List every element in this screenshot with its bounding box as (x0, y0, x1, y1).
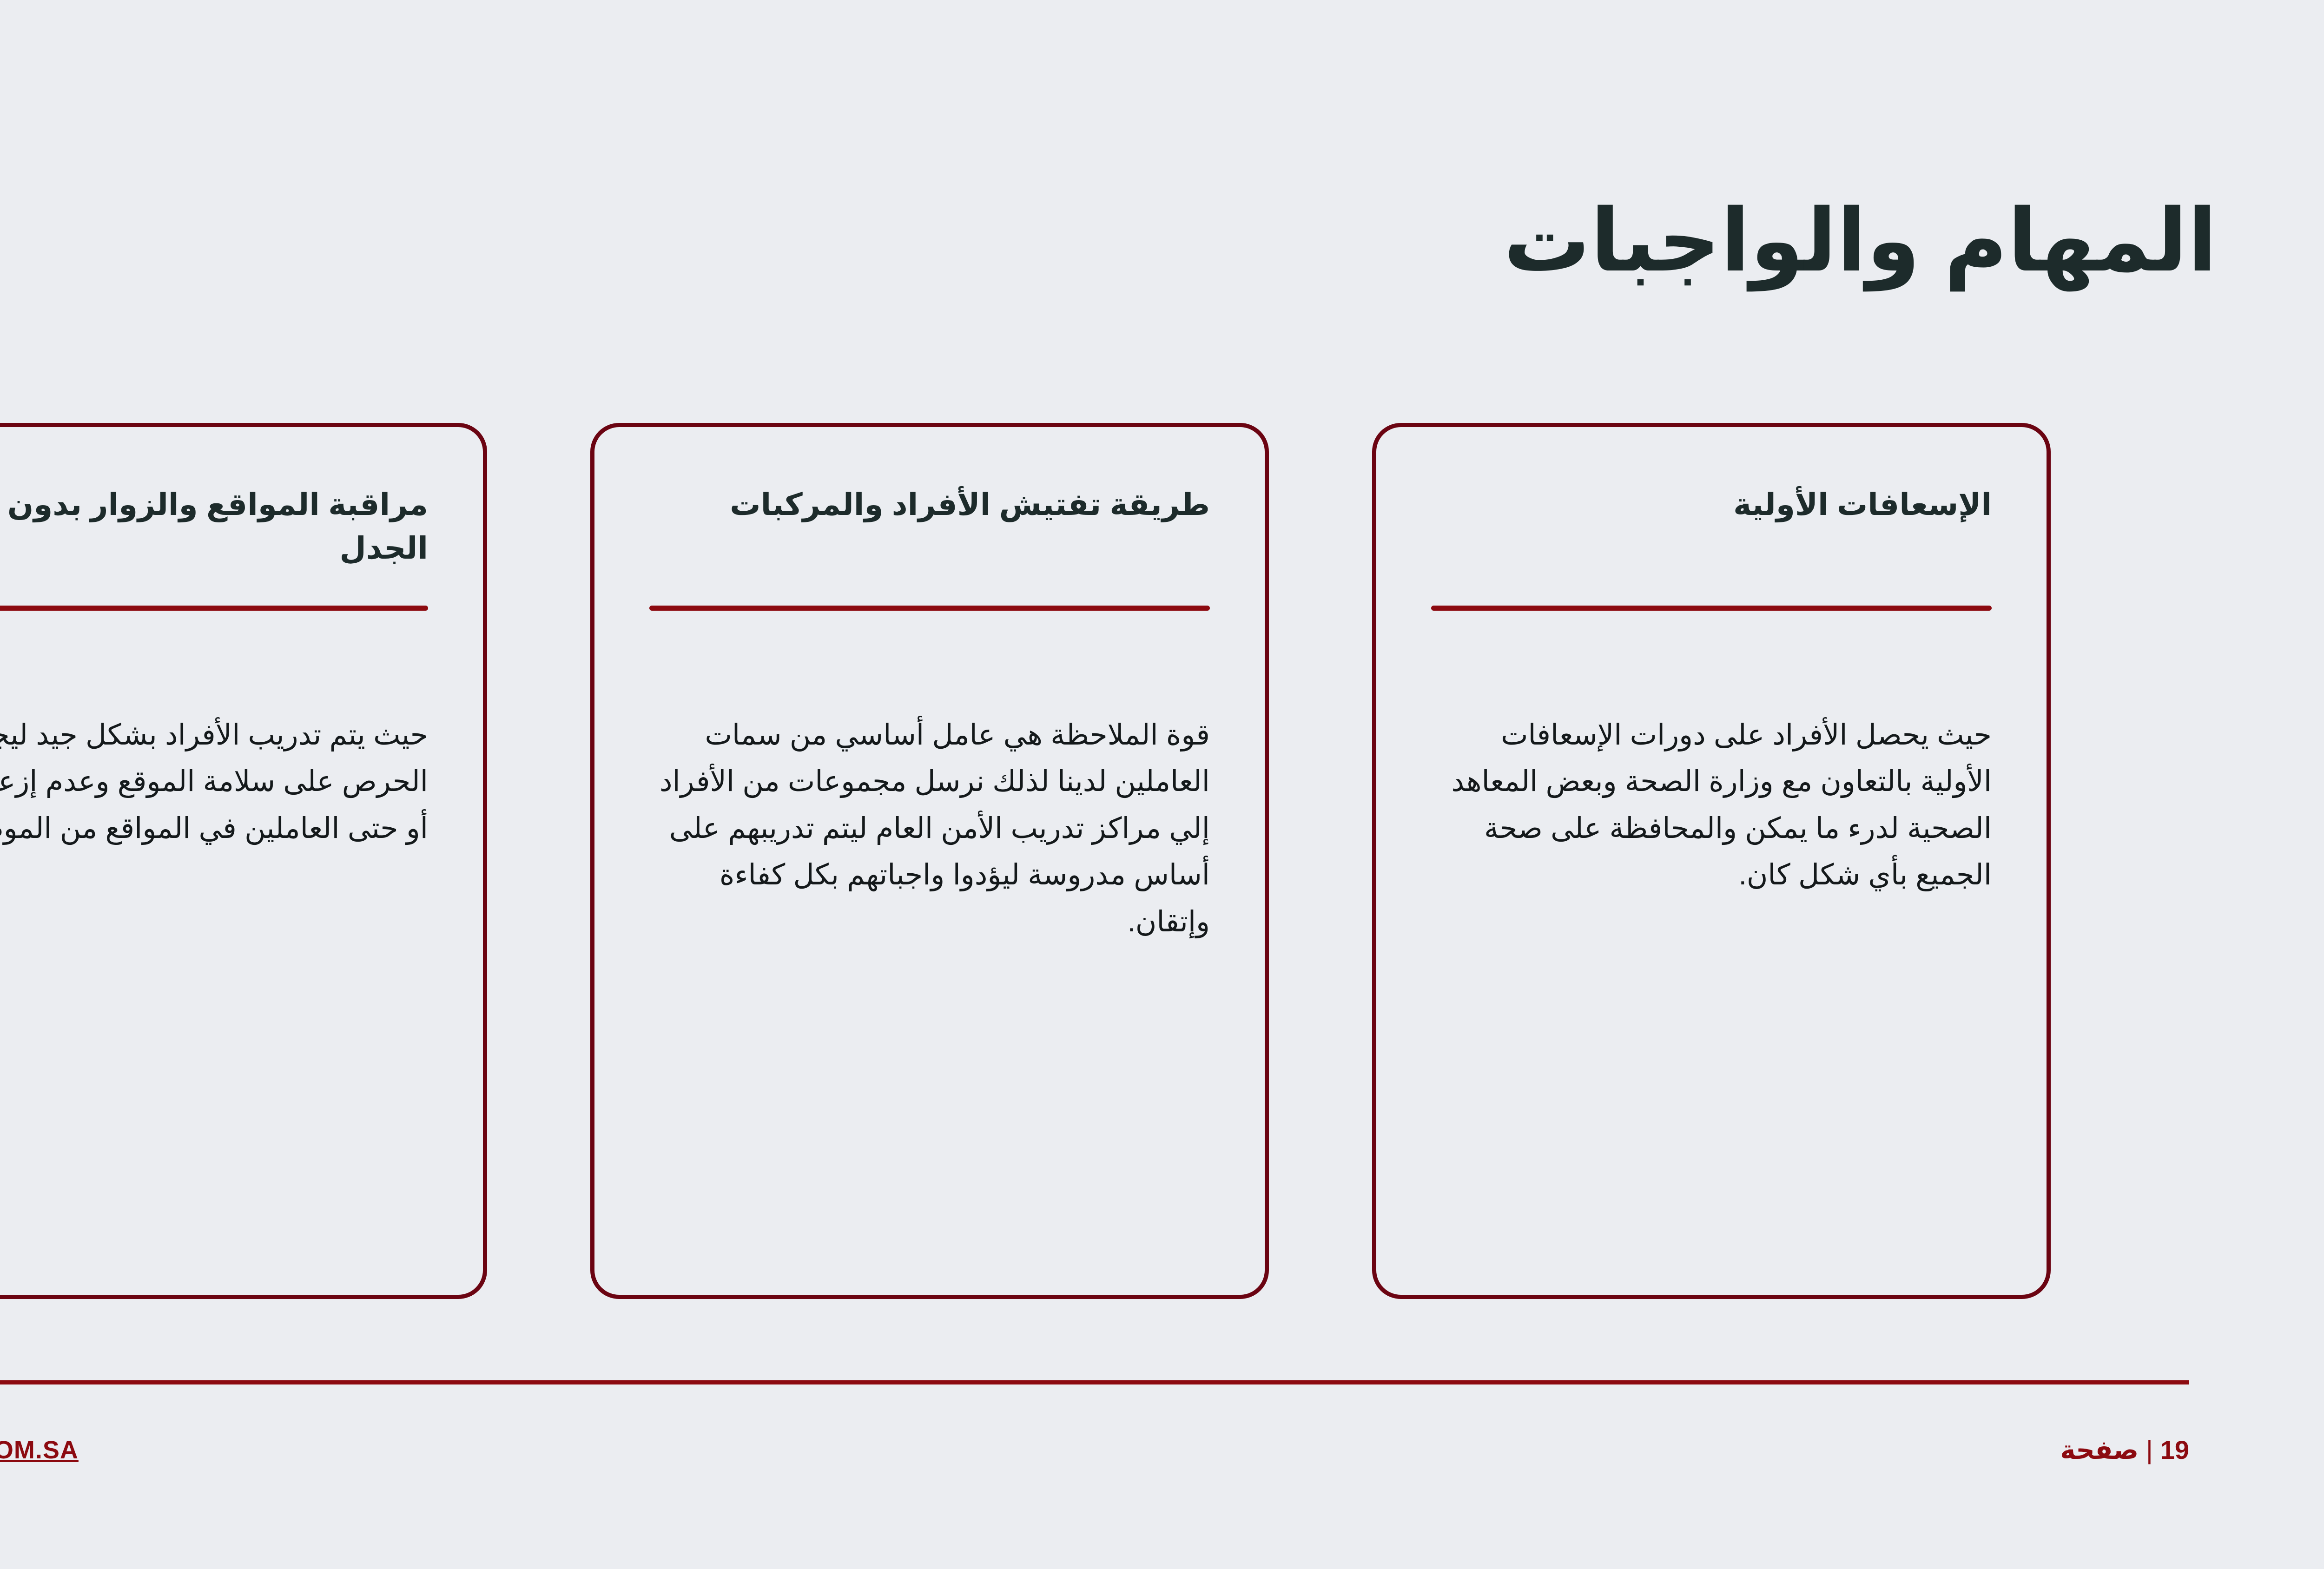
card-body: حيث يحصل الأفراد على دورات الإسعافات الأ… (1431, 712, 1992, 899)
card-content: الإسعافات الأولية حيث يحصل الأفراد على د… (1431, 483, 1992, 1267)
card-divider (1431, 606, 1992, 611)
card-title: طريقة تفتيش الأفراد والمركبات (649, 483, 1210, 576)
card-content: مراقبة المواقع والزوار بدون إثارة الجدل … (0, 483, 428, 1267)
footer: WWW.ALDRAA-ALWAQI.COM.SA 19|صفحة (0, 1422, 2189, 1478)
card-body: قوة الملاحظة هي عامل أساسي من سمات العام… (649, 712, 1210, 945)
card-body: حيث يتم تدريب الأفراد بشكل جيد ليجمع بين… (0, 712, 428, 852)
card-inspection[interactable]: طريقة تفتيش الأفراد والمركبات قوة الملاح… (590, 423, 1269, 1299)
page-title: المهام والواجبات (1504, 193, 2217, 290)
page-indicator: 19|صفحة (2060, 1435, 2189, 1465)
page-number: 19 (2160, 1435, 2189, 1464)
page-label: صفحة (2060, 1435, 2139, 1464)
page-separator: | (2139, 1435, 2160, 1464)
card-title: الإسعافات الأولية (1431, 483, 1992, 576)
card-monitoring[interactable]: مراقبة المواقع والزوار بدون إثارة الجدل … (0, 423, 487, 1299)
card-divider (0, 606, 428, 611)
card-first-aid[interactable]: الإسعافات الأولية حيث يحصل الأفراد على د… (1372, 423, 2051, 1299)
footer-divider (0, 1380, 2189, 1384)
card-divider (649, 606, 1210, 611)
website-link[interactable]: WWW.ALDRAA-ALWAQI.COM.SA (0, 1436, 79, 1464)
cards-row: مراقبة المواقع والزوار بدون إثارة الجدل … (0, 423, 2324, 1301)
card-content: طريقة تفتيش الأفراد والمركبات قوة الملاح… (649, 483, 1210, 1267)
card-title: مراقبة المواقع والزوار بدون إثارة الجدل (0, 483, 428, 576)
